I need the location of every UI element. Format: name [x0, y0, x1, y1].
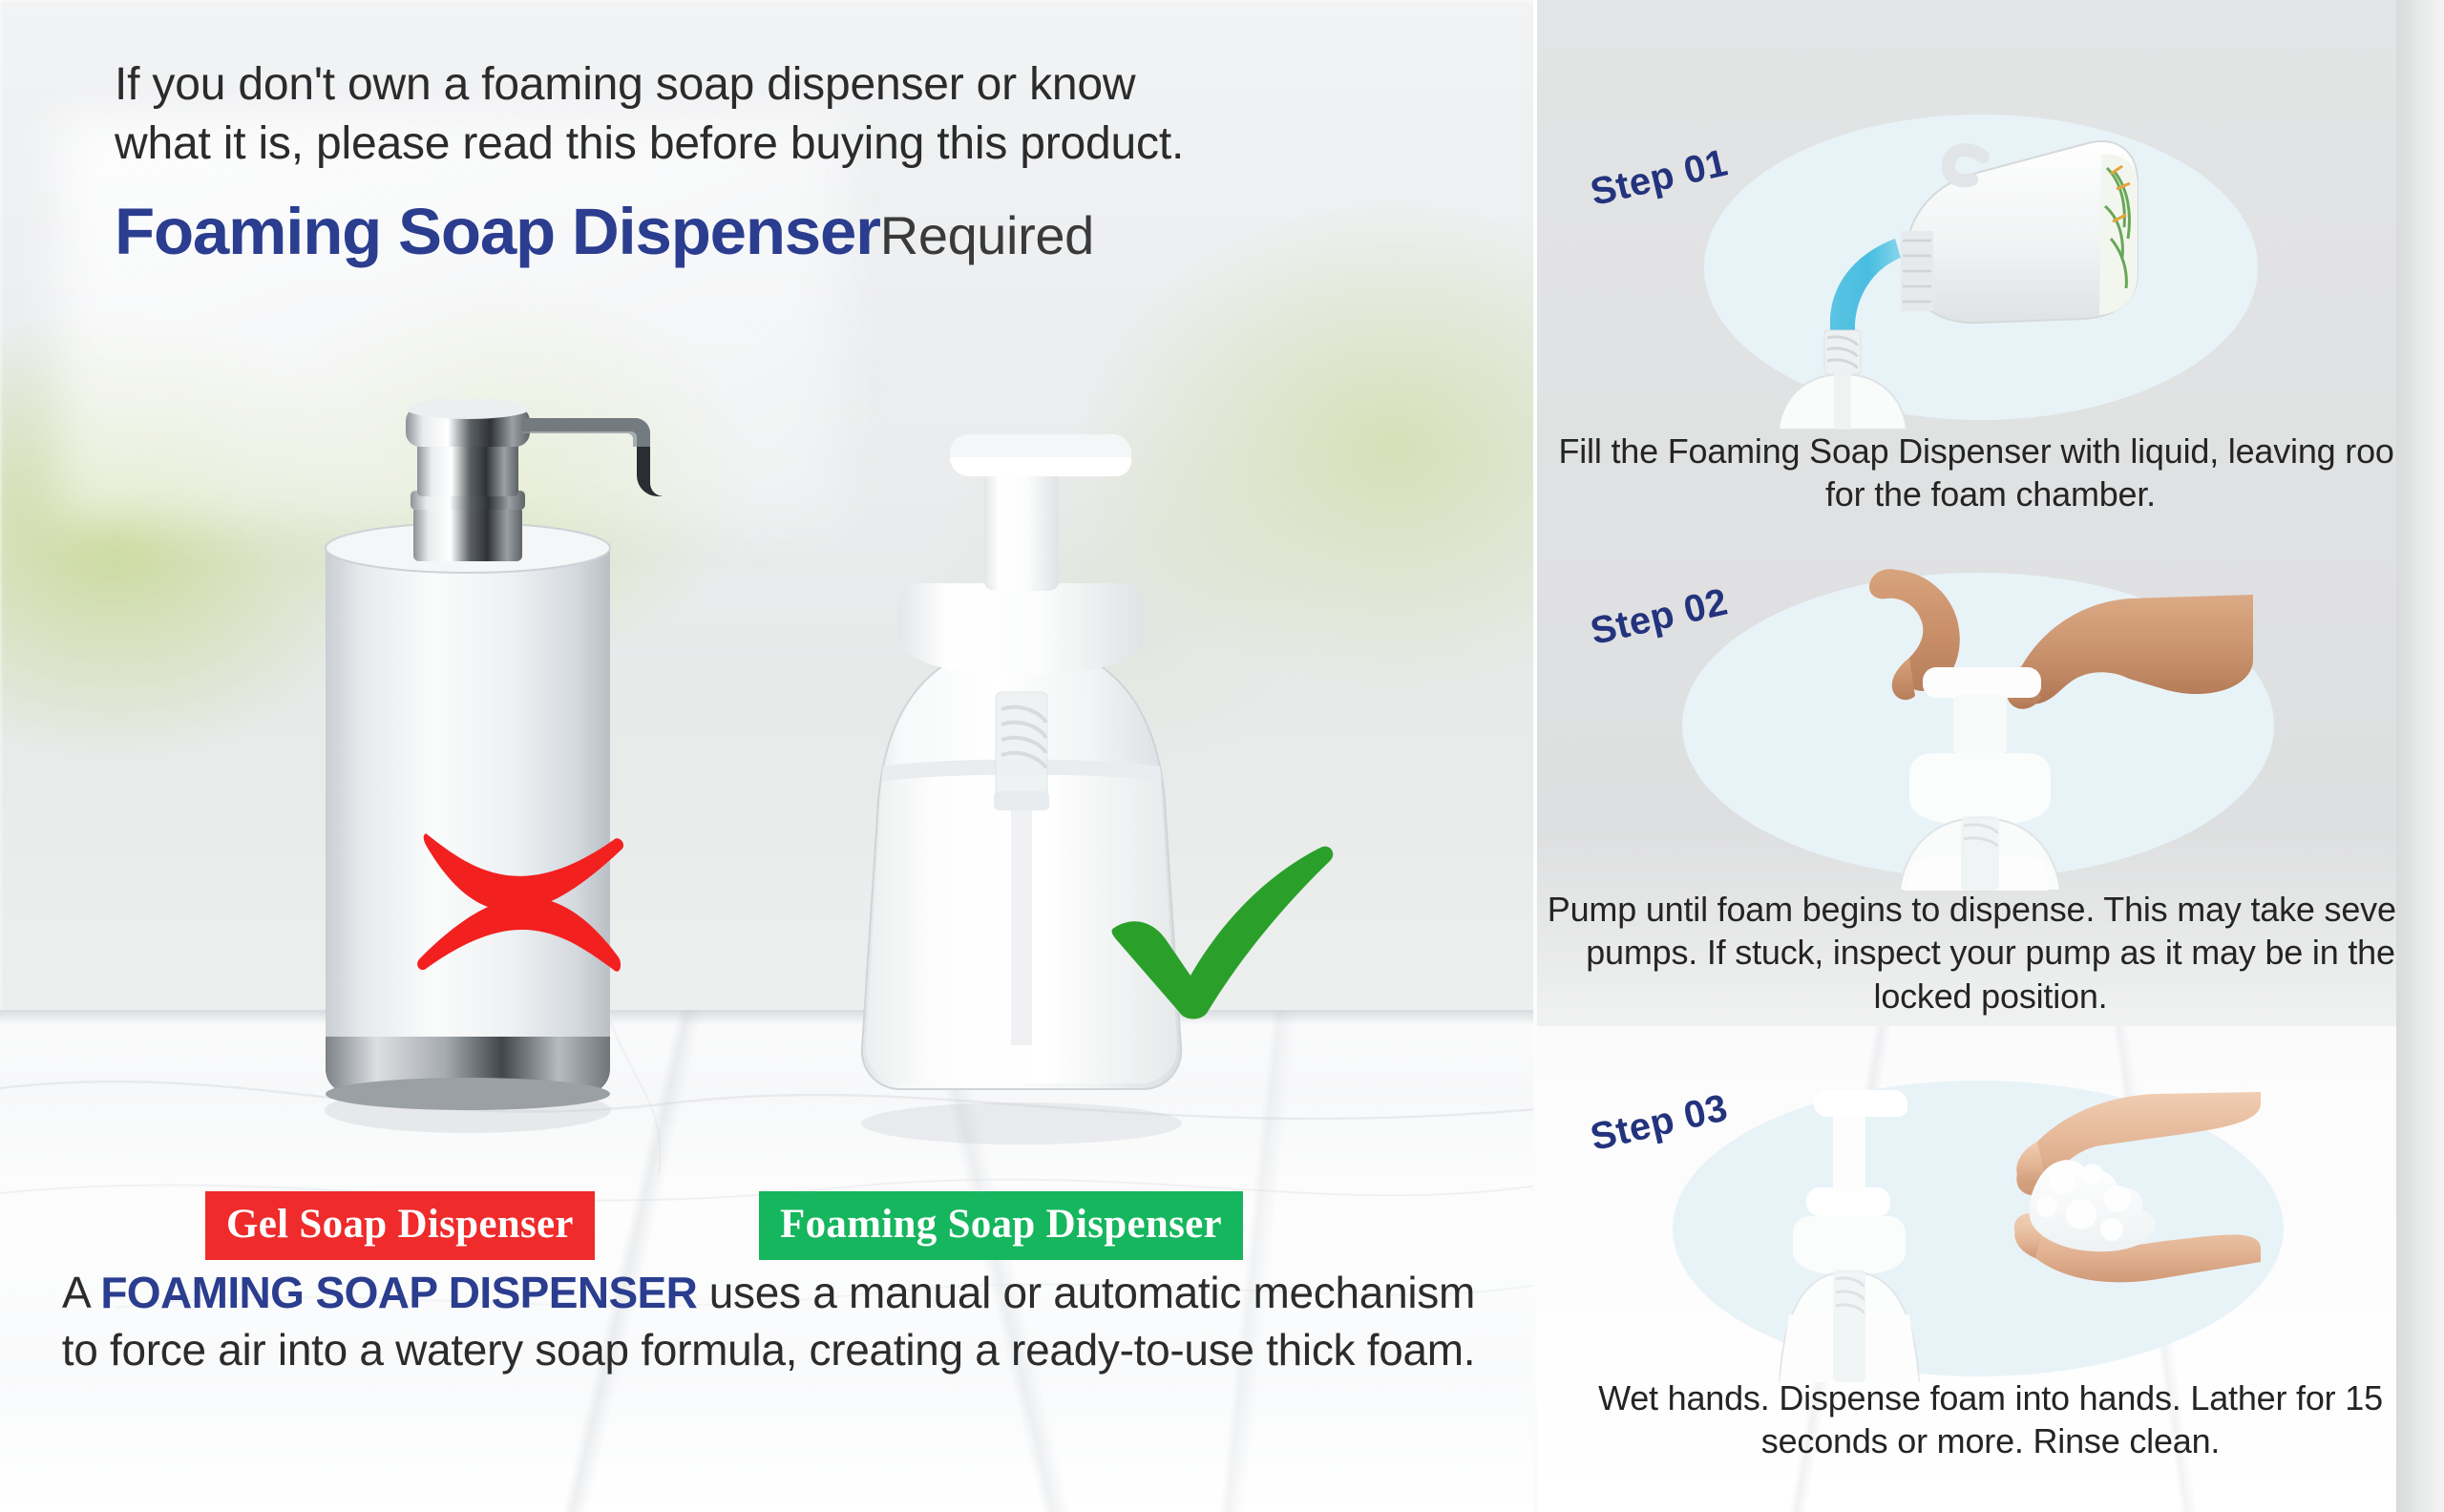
gel-dispenser-caption-chip: Gel Soap Dispenser — [205, 1191, 595, 1260]
step-2-illustration — [1718, 566, 2253, 891]
right-edge-strip — [2396, 0, 2444, 1512]
headline-block: If you don't own a foaming soap dispense… — [115, 55, 1470, 269]
page-title-main: Foaming Soap Dispenser — [115, 195, 880, 268]
step-text-3: Wet hands. Dispense foam into hands. Lat… — [1547, 1376, 2434, 1463]
step-1-illustration — [1733, 115, 2229, 430]
paragraph-emphasis: FOAMING SOAP DISPENSER — [100, 1268, 697, 1317]
foaming-dispenser-caption-chip: Foaming Soap Dispenser — [759, 1191, 1243, 1260]
step-text-1: Fill the Foaming Soap Dispenser with liq… — [1547, 430, 2434, 516]
paragraph-lead: A — [62, 1268, 100, 1317]
foaming-soap-dispenser-image — [807, 406, 1255, 1160]
right-steps-panel: PUREMAX Step 01 — [1537, 0, 2444, 1512]
page-title-tail: Required — [880, 205, 1094, 265]
step-3-illustration — [1707, 1075, 2261, 1382]
infographic-root: If you don't own a foaming soap dispense… — [0, 0, 2444, 1512]
page-title: Foaming Soap DispenserRequired — [115, 194, 1470, 269]
left-panel: If you don't own a foaming soap dispense… — [0, 0, 1537, 1512]
step-text-2: Pump until foam begins to dispense. This… — [1547, 888, 2434, 1018]
cross-mark-icon — [411, 816, 630, 993]
step-block-1: Step 01 — [1537, 0, 2444, 515]
description-paragraph: A FOAMING SOAP DISPENSER uses a manual o… — [57, 1265, 1480, 1379]
step-label-2: Step 02 — [1587, 580, 1732, 654]
check-mark-icon — [1103, 840, 1341, 1021]
step-block-2: Step 02 — [1537, 520, 2444, 1036]
step-label-1: Step 01 — [1587, 141, 1732, 215]
headline-subline-2: what it is, please read this before buyi… — [115, 115, 1470, 174]
gel-soap-dispenser-image — [272, 399, 673, 1153]
headline-subline-1: If you don't own a foaming soap dispense… — [115, 55, 1470, 115]
step-block-3: Step 03 — [1537, 1040, 2444, 1512]
